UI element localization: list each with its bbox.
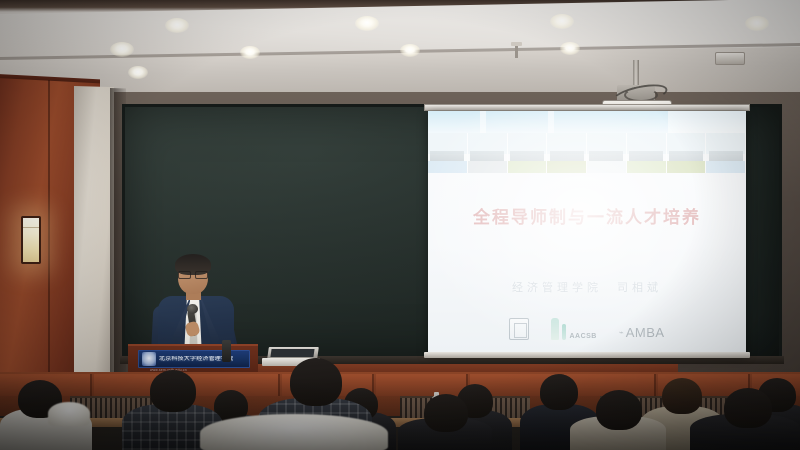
fur-collar (48, 402, 90, 426)
audience-head (290, 358, 342, 406)
slide-photo-thumb (547, 133, 587, 173)
ceiling-downlight (560, 42, 580, 55)
wood-wainscot-panel (376, 374, 468, 396)
ceiling-downlight (550, 14, 574, 29)
slide-subtitle: 经济管理学院 司相斌 (428, 279, 746, 295)
eyeglasses-icon (178, 271, 208, 277)
slide-photo-thumb (468, 133, 508, 173)
wall-sconce (21, 216, 41, 264)
slide-title: 全程导师制与一流人才培养 (428, 203, 746, 228)
podium-dark-bottle (222, 340, 231, 362)
ceiling-downlight (110, 42, 134, 57)
audience-head (540, 374, 578, 410)
slide-top-band (428, 111, 746, 133)
amba-logo-icon: ⌁ AMBA (619, 325, 665, 340)
university-seal-logo-icon (509, 318, 529, 340)
slide-photo-strip (428, 133, 746, 173)
screen-housing (424, 104, 750, 111)
slide-photo-thumb (627, 133, 667, 173)
wood-panel-seam (48, 80, 50, 380)
lecture-hall-photo: 全程导师制与一流人才培养 经济管理学院 司相斌 AACSB ⌁ AMBA (0, 0, 800, 450)
ceiling-fixture-stub (515, 45, 518, 58)
slide-photo-thumb (428, 133, 468, 173)
ceiling-downlight (400, 44, 420, 57)
slide-photo-thumb (667, 133, 707, 173)
slide-photo-thumb (508, 133, 548, 173)
ceiling-downlight (745, 16, 769, 31)
podium-sign: 北京科技大学经济管理学院 (138, 350, 250, 368)
ceiling-vent (715, 52, 745, 65)
slide-photo-thumb (587, 133, 627, 173)
ceiling-downlight (355, 16, 379, 31)
audience-head (662, 378, 702, 414)
slide-photo-thumb (706, 133, 746, 173)
projection-screen: 全程导师制与一流人才培养 经济管理学院 司相斌 AACSB ⌁ AMBA (428, 111, 746, 354)
screen-bottom-bar (424, 352, 750, 358)
audience-head (596, 390, 642, 430)
fur-collar (200, 414, 388, 450)
audience-head (724, 388, 772, 428)
university-emblem-icon (142, 352, 156, 366)
ceiling-downlight (165, 18, 189, 33)
ceiling-downlight (128, 66, 148, 79)
laptop-screen (270, 349, 314, 357)
audience-head (150, 370, 196, 412)
aacsb-logo-label: AACSB (569, 333, 596, 340)
amba-logo-label: AMBA (626, 325, 665, 340)
left-column (74, 86, 114, 379)
ceiling-downlight (240, 46, 260, 59)
microphone-head-icon (187, 304, 198, 314)
slide-logo-row: AACSB ⌁ AMBA (428, 318, 746, 340)
aacsb-logo-icon: AACSB (551, 318, 596, 340)
presentation-slide: 全程导师制与一流人才培养 经济管理学院 司相斌 AACSB ⌁ AMBA (428, 111, 746, 354)
audience-head (424, 394, 468, 432)
